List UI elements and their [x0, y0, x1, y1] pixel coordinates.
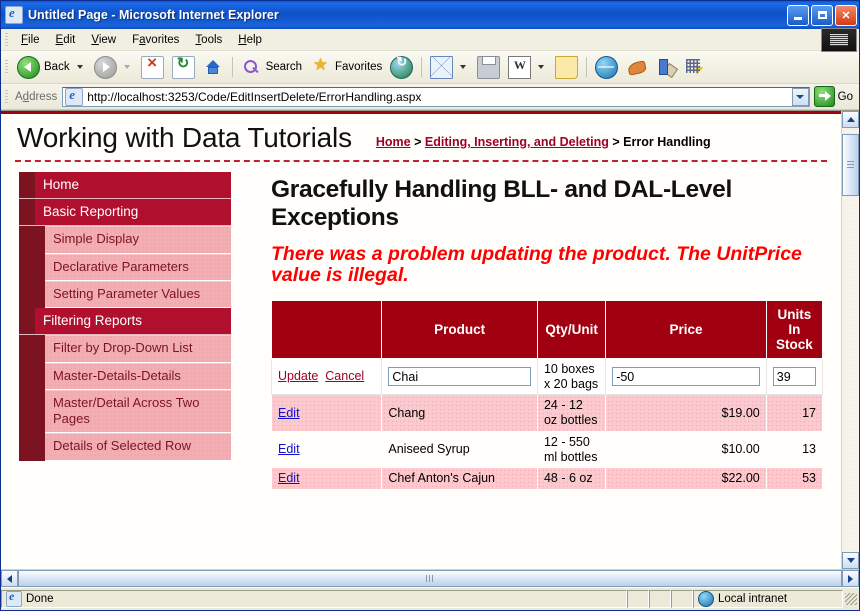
- address-dropdown-button[interactable]: [792, 88, 809, 106]
- row-price-cell: $22.00: [606, 468, 767, 490]
- sidebar-item-master-detail-across-two-pages[interactable]: Master/Detail Across Two Pages: [19, 390, 231, 434]
- breadcrumb-sep-1: >: [411, 135, 425, 149]
- row-price-cell: $19.00: [606, 395, 767, 432]
- breadcrumb-link-home[interactable]: Home: [376, 135, 411, 149]
- zone-globe-icon: [698, 591, 714, 607]
- go-button[interactable]: Go: [810, 86, 857, 107]
- word-document-icon: [508, 56, 531, 79]
- site-title: Working with Data Tutorials: [17, 122, 352, 154]
- sidebar-item-home[interactable]: Home: [19, 172, 231, 199]
- vertical-scroll-track[interactable]: [842, 128, 859, 552]
- messenger-icon: [626, 57, 647, 78]
- sidebar-item-label: Home: [35, 172, 231, 198]
- back-arrow-icon: [17, 56, 40, 79]
- globe-icon: [595, 56, 618, 79]
- menu-favorites[interactable]: Favorites: [124, 32, 187, 48]
- vertical-scrollbar[interactable]: [841, 111, 859, 569]
- grid-header-row: Product Qty/Unit Price Units In Stock: [272, 300, 823, 358]
- extra3-button[interactable]: [680, 55, 709, 80]
- update-link[interactable]: Update: [278, 369, 318, 383]
- title-bar: Untitled Page - Microsoft Internet Explo…: [1, 1, 859, 29]
- search-icon: [241, 57, 262, 78]
- sidebar-accent-bar: [19, 433, 45, 460]
- units-in-stock-input[interactable]: [773, 367, 816, 386]
- unit-price-input[interactable]: [612, 367, 760, 386]
- window-controls: ✕: [787, 5, 857, 26]
- zone-text: Local intranet: [718, 593, 787, 605]
- row-product-cell: Chang: [382, 395, 538, 432]
- sidebar-item-label: Master/Detail Across Two Pages: [45, 390, 231, 434]
- research-icon: [655, 57, 676, 78]
- sidebar-accent-bar: [19, 308, 35, 334]
- sticky-note-icon: [555, 56, 578, 79]
- row-units-cell: 13: [766, 431, 822, 468]
- product-name-input[interactable]: [388, 367, 531, 386]
- browser-window: Untitled Page - Microsoft Internet Explo…: [0, 0, 860, 611]
- printer-icon: [477, 56, 500, 79]
- page-content: Working with Data Tutorials Home > Editi…: [1, 111, 841, 569]
- breadcrumb: Home > Editing, Inserting, and Deleting …: [352, 122, 736, 151]
- scroll-up-button[interactable]: [842, 111, 859, 128]
- sidebar-item-label: Filter by Drop-Down List: [45, 335, 231, 362]
- edit-link[interactable]: Edit: [278, 471, 300, 485]
- toolbar-separator-1: [232, 57, 233, 77]
- refresh-button[interactable]: [168, 54, 199, 81]
- go-arrow-icon: [814, 86, 835, 107]
- edit-row-units-cell: [766, 358, 822, 395]
- status-page-icon: [6, 591, 22, 607]
- page-header: Working with Data Tutorials Home > Editi…: [1, 114, 841, 158]
- search-button[interactable]: Search: [237, 55, 306, 80]
- status-pane-3: [671, 590, 693, 608]
- status-text: Done: [26, 593, 54, 605]
- scroll-right-button[interactable]: [842, 570, 859, 587]
- toolbar-separator-2: [421, 57, 422, 77]
- window-title: Untitled Page - Microsoft Internet Explo…: [28, 8, 787, 22]
- history-button[interactable]: [386, 54, 417, 81]
- go-label: Go: [838, 91, 853, 103]
- sidebar-accent-bar: [19, 335, 45, 362]
- edit-row-commands: Update Cancel: [272, 358, 382, 395]
- edit-row-qty-cell: 10 boxes x 20 bags: [537, 358, 605, 395]
- breadcrumb-sep-2: >: [609, 135, 623, 149]
- error-message: There was a problem updating the product…: [271, 244, 823, 286]
- sidebar-item-simple-display[interactable]: Simple Display: [19, 226, 231, 253]
- status-bar: Done Local intranet: [1, 587, 859, 610]
- sidebar-item-master-details-details[interactable]: Master-Details-Details: [19, 363, 231, 390]
- table-row: Edit Aniseed Syrup 12 - 550 ml bottles $…: [272, 431, 823, 468]
- status-pane-2: [649, 590, 671, 608]
- sidebar-item-label: Master-Details-Details: [45, 363, 231, 390]
- menu-file[interactable]: File: [13, 32, 48, 48]
- home-icon: [203, 57, 224, 78]
- sidebar-item-label: Details of Selected Row: [45, 433, 231, 460]
- page-icon: [65, 88, 83, 106]
- page-viewport: Working with Data Tutorials Home > Editi…: [1, 110, 859, 569]
- menu-tools[interactable]: Tools: [187, 32, 230, 48]
- row-command-cell: Edit: [272, 395, 382, 432]
- column-header-commands: [272, 300, 382, 358]
- row-command-cell: Edit: [272, 468, 382, 490]
- row-qty-cell: 24 - 12 oz bottles: [537, 395, 605, 432]
- status-message-pane: Done: [1, 590, 627, 608]
- column-header-product: Product: [382, 300, 538, 358]
- sidebar-item-label: Setting Parameter Values: [45, 281, 231, 308]
- stop-icon: [141, 56, 164, 79]
- sidebar-item-filter-by-drop-down-list[interactable]: Filter by Drop-Down List: [19, 335, 231, 362]
- refresh-icon: [172, 56, 195, 79]
- edit-word-button[interactable]: [504, 54, 551, 81]
- resize-grip[interactable]: [845, 593, 857, 605]
- menu-edit[interactable]: Edit: [48, 32, 84, 48]
- menu-help[interactable]: Help: [230, 32, 270, 48]
- products-grid: Product Qty/Unit Price Units In Stock Up…: [271, 300, 823, 490]
- print-button[interactable]: [473, 54, 504, 81]
- column-header-units-in-stock: Units In Stock: [766, 300, 822, 358]
- row-qty-cell: 12 - 550 ml bottles: [537, 431, 605, 468]
- sidebar-item-label: Simple Display: [45, 226, 231, 253]
- stop-button[interactable]: [137, 54, 168, 81]
- ie-page-icon: [5, 6, 23, 24]
- menu-view[interactable]: View: [83, 32, 124, 48]
- sidebar-accent-bar: [19, 363, 45, 390]
- edit-row-product-cell: [382, 358, 538, 395]
- history-icon: [390, 56, 413, 79]
- toolbar-grip[interactable]: [5, 60, 8, 74]
- column-header-qty-unit: Qty/Unit: [537, 300, 605, 358]
- sidebar-item-label: Basic Reporting: [35, 199, 231, 225]
- sidebar-item-label: Declarative Parameters: [45, 254, 231, 281]
- sidebar-accent-bar: [19, 226, 45, 253]
- word-chevron-down-icon[interactable]: [538, 65, 544, 69]
- extra2-button[interactable]: [651, 55, 680, 80]
- forward-chevron-down-icon: [124, 65, 130, 69]
- address-input-wrap[interactable]: [62, 87, 809, 107]
- column-header-price: Price: [606, 300, 767, 358]
- close-button[interactable]: ✕: [835, 5, 857, 26]
- row-units-cell: 17: [766, 395, 822, 432]
- address-label: Address: [15, 91, 57, 103]
- edit-link[interactable]: Edit: [278, 442, 300, 456]
- sidebar-accent-bar: [19, 390, 45, 434]
- address-bar: Address Go: [1, 84, 859, 110]
- horizontal-scroll-track[interactable]: [18, 570, 842, 587]
- sidebar-item-filtering-reports[interactable]: Filtering Reports: [19, 308, 231, 335]
- favorites-button[interactable]: Favorites: [306, 55, 386, 80]
- table-row: Edit Chang 24 - 12 oz bottles $19.00 17: [272, 395, 823, 432]
- page-title: Gracefully Handling BLL- and DAL-Level E…: [271, 176, 823, 232]
- back-label: Back: [44, 61, 70, 73]
- edit-row-price-cell: [606, 358, 767, 395]
- horizontal-scrollbar[interactable]: [1, 569, 859, 587]
- forward-button[interactable]: [90, 54, 137, 81]
- minimize-button[interactable]: [787, 5, 809, 26]
- row-units-cell: 53: [766, 468, 822, 490]
- home-button[interactable]: [199, 55, 228, 80]
- menu-bar: File Edit View Favorites Tools Help: [1, 29, 859, 51]
- mail-icon: [430, 56, 453, 79]
- sidebar-accent-bar: [19, 254, 45, 281]
- extra1-button[interactable]: [622, 55, 651, 80]
- sidebar-nav: Home Basic Reporting Simple Display: [19, 172, 231, 461]
- vertical-scroll-thumb[interactable]: [842, 134, 859, 196]
- sidebar-item-setting-parameter-values[interactable]: Setting Parameter Values: [19, 281, 231, 308]
- messenger-button[interactable]: [591, 54, 622, 81]
- mail-button[interactable]: [426, 54, 473, 81]
- star-icon: [310, 57, 331, 78]
- brand-logo: [821, 28, 857, 52]
- sidebar-item-label: Filtering Reports: [35, 308, 231, 334]
- main-content: Gracefully Handling BLL- and DAL-Level E…: [231, 172, 841, 490]
- sidebar-item-details-of-selected-row[interactable]: Details of Selected Row: [19, 433, 231, 460]
- edit-link[interactable]: Edit: [278, 406, 300, 420]
- maximize-button[interactable]: [811, 5, 833, 26]
- cancel-link[interactable]: Cancel: [325, 369, 364, 383]
- table-row: Edit Chef Anton's Cajun 48 - 6 oz $22.00…: [272, 468, 823, 490]
- sidebar-item-declarative-parameters[interactable]: Declarative Parameters: [19, 254, 231, 281]
- row-product-cell: Aniseed Syrup: [382, 431, 538, 468]
- navigation-toolbar: Back Search Favorites: [1, 51, 859, 84]
- sidebar-accent-bar: [19, 199, 35, 225]
- mail-chevron-down-icon[interactable]: [460, 65, 466, 69]
- back-button[interactable]: Back: [13, 54, 90, 81]
- scroll-down-button[interactable]: [842, 552, 859, 569]
- search-label: Search: [266, 61, 302, 73]
- forward-arrow-icon: [94, 56, 117, 79]
- status-pane-1: [627, 590, 649, 608]
- row-command-cell: Edit: [272, 431, 382, 468]
- row-qty-cell: 48 - 6 oz: [537, 468, 605, 490]
- grid-tool-icon: [684, 57, 705, 78]
- back-chevron-down-icon[interactable]: [77, 65, 83, 69]
- toolbar-separator-3: [586, 57, 587, 77]
- notes-button[interactable]: [551, 54, 582, 81]
- sidebar-item-basic-reporting[interactable]: Basic Reporting: [19, 199, 231, 226]
- row-price-cell: $10.00: [606, 431, 767, 468]
- favorites-label: Favorites: [335, 61, 382, 73]
- horizontal-scroll-thumb[interactable]: [18, 570, 842, 587]
- scroll-left-button[interactable]: [1, 570, 18, 587]
- sidebar-accent-bar: [19, 281, 45, 308]
- security-zone-pane[interactable]: Local intranet: [693, 590, 843, 608]
- address-grip[interactable]: [5, 90, 8, 104]
- row-product-cell: Chef Anton's Cajun: [382, 468, 538, 490]
- sidebar-accent-bar: [19, 172, 35, 198]
- grid-edit-row: Update Cancel 10 boxes x 20 bags: [272, 358, 823, 395]
- menu-grip[interactable]: [5, 33, 8, 47]
- breadcrumb-current: Error Handling: [623, 135, 711, 149]
- breadcrumb-link-section[interactable]: Editing, Inserting, and Deleting: [425, 135, 609, 149]
- address-input[interactable]: [87, 90, 791, 104]
